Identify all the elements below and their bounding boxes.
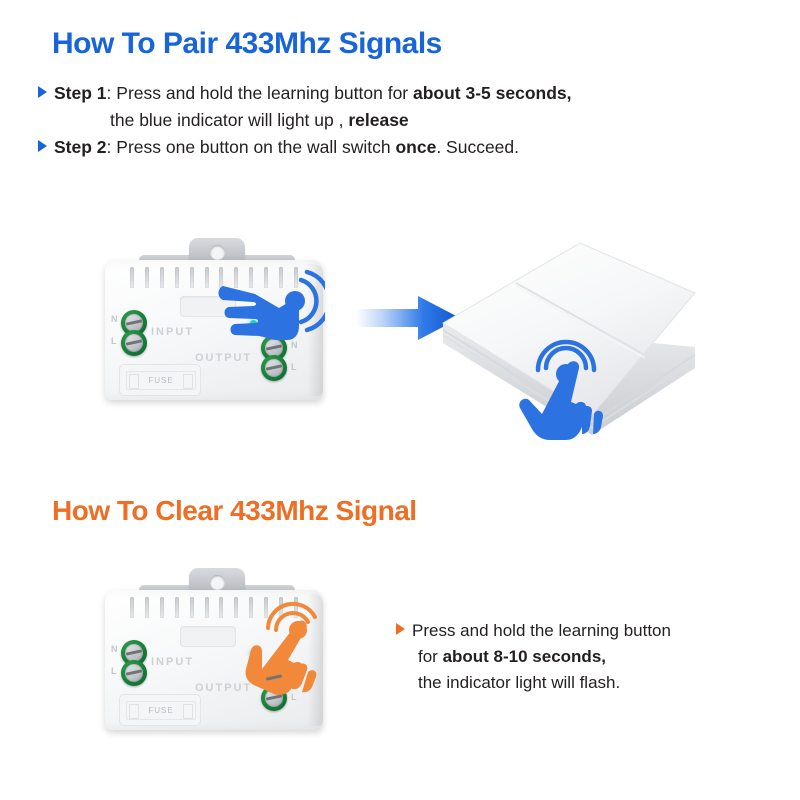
triangle-bullet-icon xyxy=(38,140,47,152)
vent-slot xyxy=(190,267,194,288)
step-1-line2-text: the blue indicator will light up , xyxy=(110,110,348,130)
clear-step-text-2-bold: about 8-10 seconds, xyxy=(443,647,606,666)
step-2-text-bold: once xyxy=(395,137,436,157)
clear-step-text-3: the indicator light will flash. xyxy=(418,673,620,692)
step-1-label: Step 1 xyxy=(54,83,107,103)
clear-step-line-2: for about 8-10 seconds, xyxy=(396,644,746,670)
pair-section-heading: How To Pair 433Mhz Signals xyxy=(52,27,442,61)
input-label: INPUT xyxy=(151,656,194,668)
input-terminal-l-label: L xyxy=(111,666,117,676)
clear-step-line-1: Press and hold the learning button xyxy=(396,618,746,644)
clear-step-line-3: the indicator light will flash. xyxy=(396,670,746,696)
vent-slot xyxy=(205,597,209,618)
pointing-hand-touch-icon-orange xyxy=(236,600,341,705)
fuse-compartment: FUSE xyxy=(119,694,201,726)
clear-step-text-2a: for xyxy=(418,647,443,666)
vent-slot xyxy=(160,597,164,618)
vent-slot xyxy=(130,267,134,288)
vent-slot xyxy=(219,597,223,618)
screw-terminal xyxy=(261,355,287,381)
step-2-text-b: . Succeed. xyxy=(436,137,519,157)
input-label: INPUT xyxy=(151,326,194,338)
step-1-text-a: Press and hold the learning button for xyxy=(111,83,413,103)
relay-label-window xyxy=(180,626,236,647)
step-2-text-a: Press one button on the wall switch xyxy=(111,137,395,157)
input-terminal-n-label: N xyxy=(111,644,118,654)
step-1-text-bold: about 3-5 seconds, xyxy=(413,83,572,103)
triangle-bullet-icon xyxy=(38,86,47,98)
step-1-line-2: the blue indicator will light up , relea… xyxy=(38,107,678,134)
input-terminal-block xyxy=(121,640,147,686)
fuse-label: FUSE xyxy=(126,701,196,720)
pointing-hand-touch-icon-wall-switch xyxy=(516,330,626,445)
pointing-hand-touch-icon-blue xyxy=(215,262,325,354)
vent-slot xyxy=(175,597,179,618)
step-1-line2-bold: release xyxy=(348,110,408,130)
step-2-line-1: Step 2: Press one button on the wall swi… xyxy=(38,134,678,161)
input-terminal-l-label: L xyxy=(111,336,117,346)
pair-steps-list: Step 1: Press and hold the learning butt… xyxy=(38,80,678,161)
step-1-line-1: Step 1: Press and hold the learning butt… xyxy=(38,80,678,107)
step-2-label: Step 2 xyxy=(54,137,107,157)
clear-steps-list: Press and hold the learning button for a… xyxy=(396,618,746,696)
clear-section-heading: How To Clear 433Mhz Signal xyxy=(52,495,417,527)
vent-slot xyxy=(160,267,164,288)
vent-slot xyxy=(205,267,209,288)
clear-step-text-1: Press and hold the learning button xyxy=(412,621,671,640)
fuse-compartment: FUSE xyxy=(119,364,201,396)
screw-terminal xyxy=(121,660,147,686)
input-terminal-n-label: N xyxy=(111,314,118,324)
vent-slot xyxy=(145,267,149,288)
output-terminal-l-label: L xyxy=(291,362,297,372)
vent-slot xyxy=(190,597,194,618)
triangle-bullet-icon xyxy=(396,623,405,635)
input-terminal-block xyxy=(121,310,147,356)
vent-slot xyxy=(145,597,149,618)
vent-slot xyxy=(175,267,179,288)
screw-terminal xyxy=(121,330,147,356)
vent-slot xyxy=(130,597,134,618)
fuse-label: FUSE xyxy=(126,371,196,390)
